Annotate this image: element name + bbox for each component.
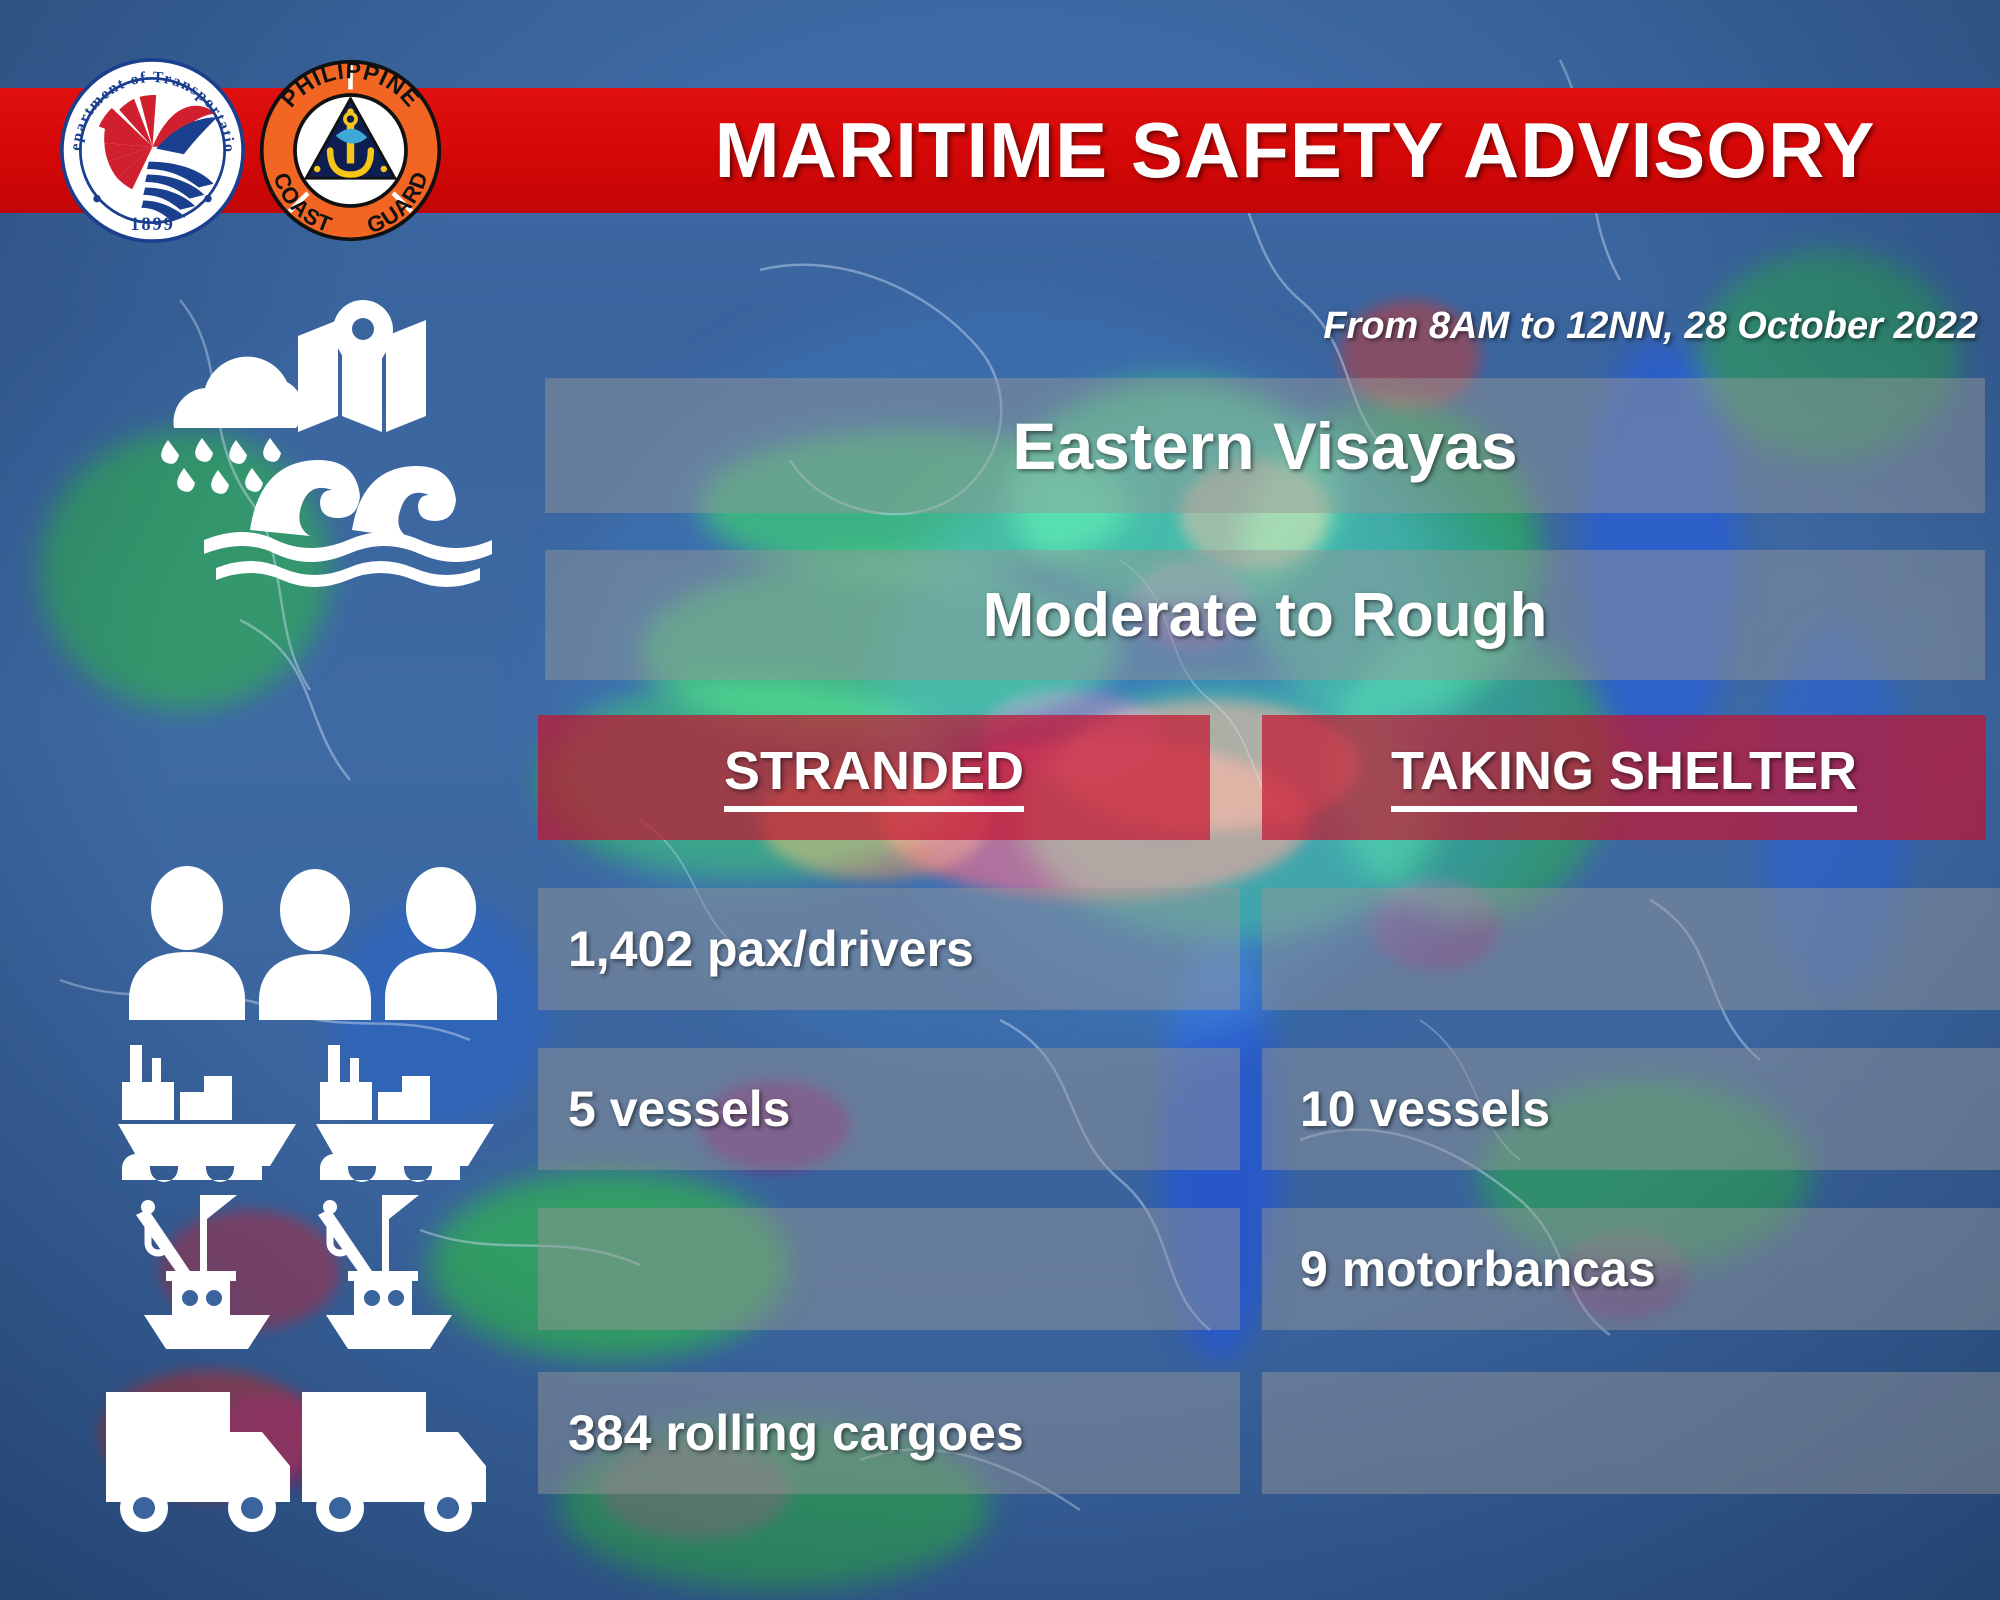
region-bar: Eastern Visayas: [545, 378, 1985, 513]
fishing-boat-icon: [136, 1195, 270, 1349]
weather-icon-group: [120, 300, 520, 580]
cell-shelter-vessels: 10 vessels: [1262, 1048, 2000, 1170]
sea-condition-label: Moderate to Rough: [983, 580, 1548, 651]
cargo-ship-icon-group: [100, 1020, 520, 1180]
cargo-ship-icon: [118, 1045, 296, 1182]
advisory-date-range: From 8AM to 12NN, 28 October 2022: [1323, 305, 1978, 348]
truck-icon: [302, 1392, 486, 1532]
dotr-year: 1899: [130, 215, 174, 235]
cell-stranded-rolling-cargoes: 384 rolling cargoes: [538, 1372, 1240, 1494]
cargo-ship-icon: [316, 1045, 494, 1182]
page-title: MARITIME SAFETY ADVISORY: [600, 88, 1990, 213]
column-header-stranded: STRANDED: [538, 715, 1210, 840]
fishing-boat-icon: [318, 1195, 452, 1349]
column-header-stranded-label: STRANDED: [724, 743, 1024, 812]
cell-shelter-rolling-cargoes: [1262, 1372, 2000, 1494]
cell-stranded-vessels: 5 vessels: [538, 1048, 1240, 1170]
value-shelter-vessels: 10 vessels: [1300, 1080, 1550, 1138]
value-shelter-motorbancas: 9 motorbancas: [1300, 1240, 1656, 1298]
value-stranded-people: 1,402 pax/drivers: [568, 920, 974, 978]
cell-shelter-people: [1262, 888, 2000, 1010]
value-stranded-vessels: 5 vessels: [568, 1080, 790, 1138]
column-header-taking-shelter: TAKING SHELTER: [1262, 715, 1986, 840]
people-icon-group: [125, 860, 525, 1020]
value-stranded-rolling-cargoes: 384 rolling cargoes: [568, 1404, 1024, 1462]
region-label: Eastern Visayas: [1012, 408, 1517, 484]
department-of-transportation-logo: 1899 Department of Transportation: [60, 58, 245, 243]
truck-icon: [106, 1392, 290, 1532]
philippine-coast-guard-logo: PHILIPPINE COAST GUARD: [258, 58, 443, 243]
advisory-poster: MARITIME SAFETY ADVISORY: [0, 0, 2000, 1600]
truck-icon-group: [100, 1360, 520, 1540]
cell-stranded-people: 1,402 pax/drivers: [538, 888, 1240, 1010]
column-header-taking-shelter-label: TAKING SHELTER: [1391, 743, 1857, 812]
fishing-boat-icon-group: [130, 1175, 530, 1350]
map-location-icon: [298, 300, 426, 432]
cell-shelter-motorbancas: 9 motorbancas: [1262, 1208, 2000, 1330]
cell-stranded-motorbancas: [538, 1208, 1240, 1330]
sea-condition-bar: Moderate to Rough: [545, 550, 1985, 680]
people-icon: [129, 866, 497, 1020]
